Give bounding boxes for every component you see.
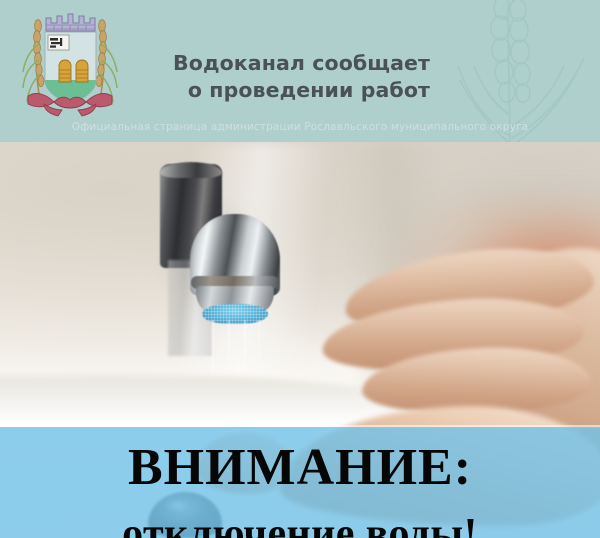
header-title-line1: Водоканал сообщает [173,51,430,75]
faucet-icon [148,164,268,324]
background-arm-blur [340,200,600,410]
header-title-line2: о проведении работ [0,77,430,104]
water-shutoff-announcement-poster: Водоканал сообщает о проведении работ Оф… [0,0,600,538]
blue-overlay-band [0,427,600,538]
header-banner: Водоканал сообщает о проведении работ Оф… [0,0,600,142]
faucet-photo: ВНИМАНИЕ: отключение воды! [0,142,600,538]
header-title: Водоканал сообщает о проведении работ [0,50,430,104]
mural-crown [46,14,95,31]
header-subtitle: Официальная страница администрации Росла… [0,121,600,133]
faucet-body-top [160,162,222,178]
